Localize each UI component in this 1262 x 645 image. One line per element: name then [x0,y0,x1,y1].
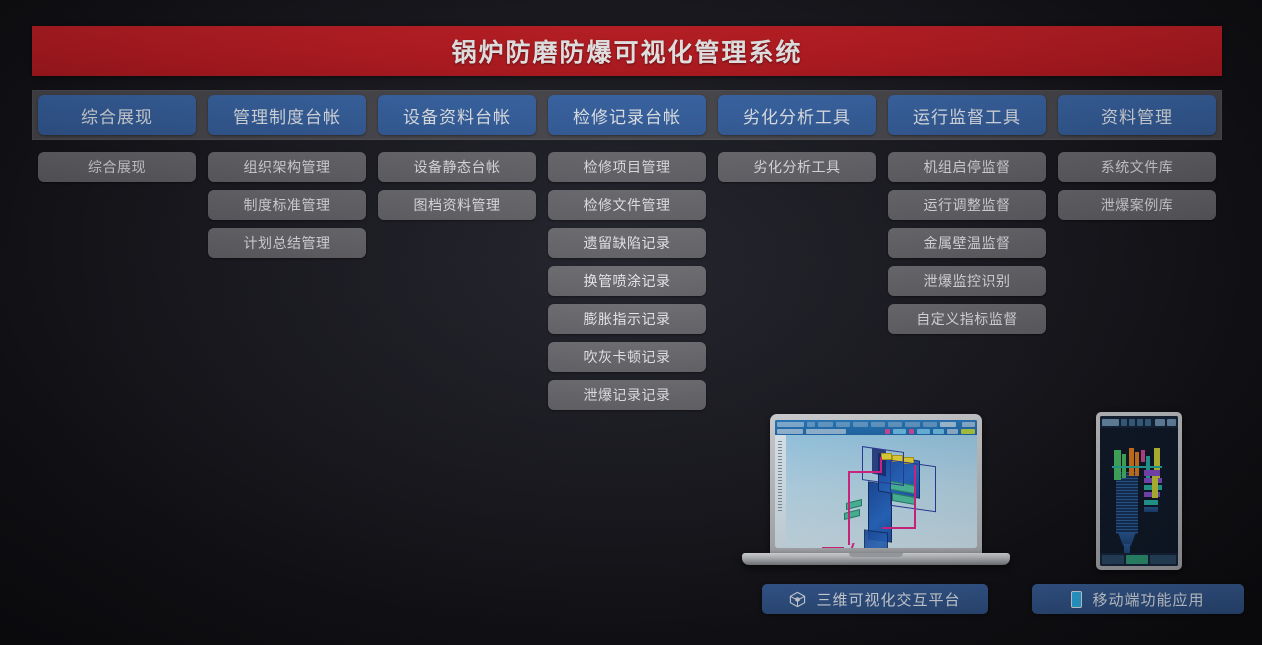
mobile-bottom-chip[interactable] [1150,555,1176,564]
phone-icon [1071,591,1082,608]
toolbar-chip [905,422,919,427]
toolbar-dot [909,429,914,434]
nav-item-jianxiujilutaizhang[interactable]: 检修记录台帐 [548,95,706,135]
nav-item-liehuafenxigongju[interactable]: 劣化分析工具 [718,95,876,135]
toolbar-chip [917,429,930,434]
submenu-item[interactable]: 机组启停监督 [888,152,1046,182]
submenu-item[interactable]: 遗留缺陷记录 [548,228,706,258]
laptop-screen [775,420,977,548]
toolbar-chip [777,422,804,427]
nav-cell: 劣化分析工具 [712,90,882,140]
boiler-3d-viewport[interactable] [786,435,977,548]
submenu-item[interactable]: 劣化分析工具 [718,152,876,182]
nav-cell: 综合展现 [32,90,202,140]
submenu-item[interactable]: 自定义指标监督 [888,304,1046,334]
submenu-item[interactable]: 计划总结管理 [208,228,366,258]
model-pipe [822,547,844,548]
toolbar-chip [777,429,803,434]
sidebar-text-lines [778,441,782,513]
submenu-item[interactable]: 图档资料管理 [378,190,536,220]
model-part [864,529,888,548]
toolbar-chip [853,422,867,427]
submenu-column-zonghezhanxian: 综合展现 [32,152,202,410]
model-pipe [848,471,850,545]
submenu-item[interactable]: 检修项目管理 [548,152,706,182]
page-title-banner: 锅炉防磨防爆可视化管理系统 [32,26,1222,76]
mobile-app-toolbar [1100,416,1178,428]
toolbar-chip [836,422,850,427]
nav-item-zonghezhanxian[interactable]: 综合展现 [38,95,196,135]
mobile-bottom-chip[interactable] [1102,555,1124,564]
nav-item-yunxingjiandugongju[interactable]: 运行监督工具 [888,95,1046,135]
primary-nav: 综合展现 管理制度台帐 设备资料台帐 检修记录台帐 劣化分析工具 运行监督工具 … [32,90,1222,140]
boiler-3d-model [786,435,977,548]
toolbar-chip [923,422,937,427]
mobile-toolbar-chip [1167,419,1176,426]
mobile-screen [1100,416,1178,566]
model-pipe [914,465,916,529]
mobile-toolbar-chip [1102,419,1119,426]
app-toolbar [775,420,977,435]
toolbar-chip [871,422,885,427]
submenu-item[interactable]: 检修文件管理 [548,190,706,220]
model-part [1135,452,1139,476]
submenu-columns: 综合展现 组织架构管理 制度标准管理 计划总结管理 设备静态台帐 图档资料管理 … [32,152,1222,410]
model-part [1129,448,1134,476]
submenu-item[interactable]: 运行调整监督 [888,190,1046,220]
toolbar-chip [933,429,944,434]
mobile-bottom-chip-active[interactable] [1126,555,1148,564]
page-title: 锅炉防磨防爆可视化管理系统 [451,33,802,69]
caption-3d-label: 三维可视化交互平台 [816,589,960,610]
caption-3d-platform[interactable]: 三维可视化交互平台 [762,584,988,614]
toolbar-chip [806,429,846,434]
nav-cell: 检修记录台帐 [542,90,712,140]
model-pipe [882,527,916,529]
submenu-item[interactable]: 泄爆案例库 [1058,190,1216,220]
toolbar-spacer [849,429,882,434]
mobile-boiler-3d-viewport[interactable] [1100,428,1178,553]
model-wireframe [890,460,936,512]
submenu-item[interactable]: 综合展现 [38,152,196,182]
caption-mobile-label: 移动端功能应用 [1092,589,1204,610]
model-part [1144,507,1158,512]
mobile-toolbar-chip [1145,419,1151,426]
toolbar-chip [947,429,958,434]
nav-cell: 资料管理 [1052,90,1222,140]
nav-cell: 设备资料台帐 [372,90,542,140]
laptop-base [742,553,1010,565]
nav-item-guanlizhidutaizhang[interactable]: 管理制度台帐 [208,95,366,135]
model-part [1114,450,1121,480]
model-pipe [880,457,882,473]
laptop-showcase [742,414,1010,574]
toolbar-dot [885,429,890,434]
toolbar-row-bottom [777,428,975,434]
nav-cell: 运行监督工具 [882,90,1052,140]
submenu-item[interactable]: 组织架构管理 [208,152,366,182]
toolbar-row-top [777,421,975,427]
toolbar-chip [818,422,832,427]
toolbar-chip [893,429,906,434]
mobile-bottom-bar [1100,553,1178,566]
model-pipe [848,471,882,473]
submenu-column-jianxiujilutaizhang: 检修项目管理 检修文件管理 遗留缺陷记录 换管喷涂记录 膨胀指示记录 吹灰卡顿记… [542,152,712,410]
caption-mobile-app[interactable]: 移动端功能应用 [1032,584,1244,614]
submenu-item[interactable]: 设备静态台帐 [378,152,536,182]
submenu-item[interactable]: 膨胀指示记录 [548,304,706,334]
submenu-item[interactable]: 泄爆监控识别 [888,266,1046,296]
nav-item-ziliaoguanli[interactable]: 资料管理 [1058,95,1216,135]
submenu-column-guanlizhidutaizhang: 组织架构管理 制度标准管理 计划总结管理 [202,152,372,410]
model-part [844,509,860,520]
submenu-item[interactable]: 系统文件库 [1058,152,1216,182]
submenu-item[interactable]: 换管喷涂记录 [548,266,706,296]
submenu-item[interactable]: 泄爆记录记录 [548,380,706,410]
toolbar-chip [807,422,815,427]
model-part [1152,476,1158,498]
mobile-toolbar-chip [1137,419,1143,426]
model-part [1144,500,1158,505]
toolbar-chip [962,422,975,427]
toolbar-chip [888,422,902,427]
model-part [1141,450,1145,462]
nav-cell: 管理制度台帐 [202,90,372,140]
submenu-column-yunxingjiandugongju: 机组启停监督 运行调整监督 金属壁温监督 泄爆监控识别 自定义指标监督 [882,152,1052,410]
submenu-column-liehuafenxigongju: 劣化分析工具 [712,152,882,410]
nav-item-shebeiziliaotaizhang[interactable]: 设备资料台帐 [378,95,536,135]
mobile-toolbar-chip [1121,419,1127,426]
model-beam [1112,466,1162,468]
submenu-item[interactable]: 制度标准管理 [208,190,366,220]
laptop-lid [770,414,982,555]
submenu-column-shebeiziliaotaizhang: 设备静态台帐 图档资料管理 [372,152,542,410]
laptop-notch [849,553,903,557]
mobile-toolbar-chip [1129,419,1135,426]
submenu-item[interactable]: 金属壁温监督 [888,228,1046,258]
model-part [1116,472,1138,534]
application-root: 锅炉防磨防爆可视化管理系统 综合展现 管理制度台帐 设备资料台帐 检修记录台帐 … [0,0,1262,645]
toolbar-chip-highlight [961,429,975,434]
submenu-item[interactable]: 吹灰卡顿记录 [548,342,706,372]
cube-icon [789,591,806,608]
submenu-column-ziliaoguanli: 系统文件库 泄爆案例库 [1052,152,1222,410]
toolbar-chip-active [940,422,956,427]
mobile-toolbar-chip [1155,419,1164,426]
mobile-showcase [1096,412,1182,570]
